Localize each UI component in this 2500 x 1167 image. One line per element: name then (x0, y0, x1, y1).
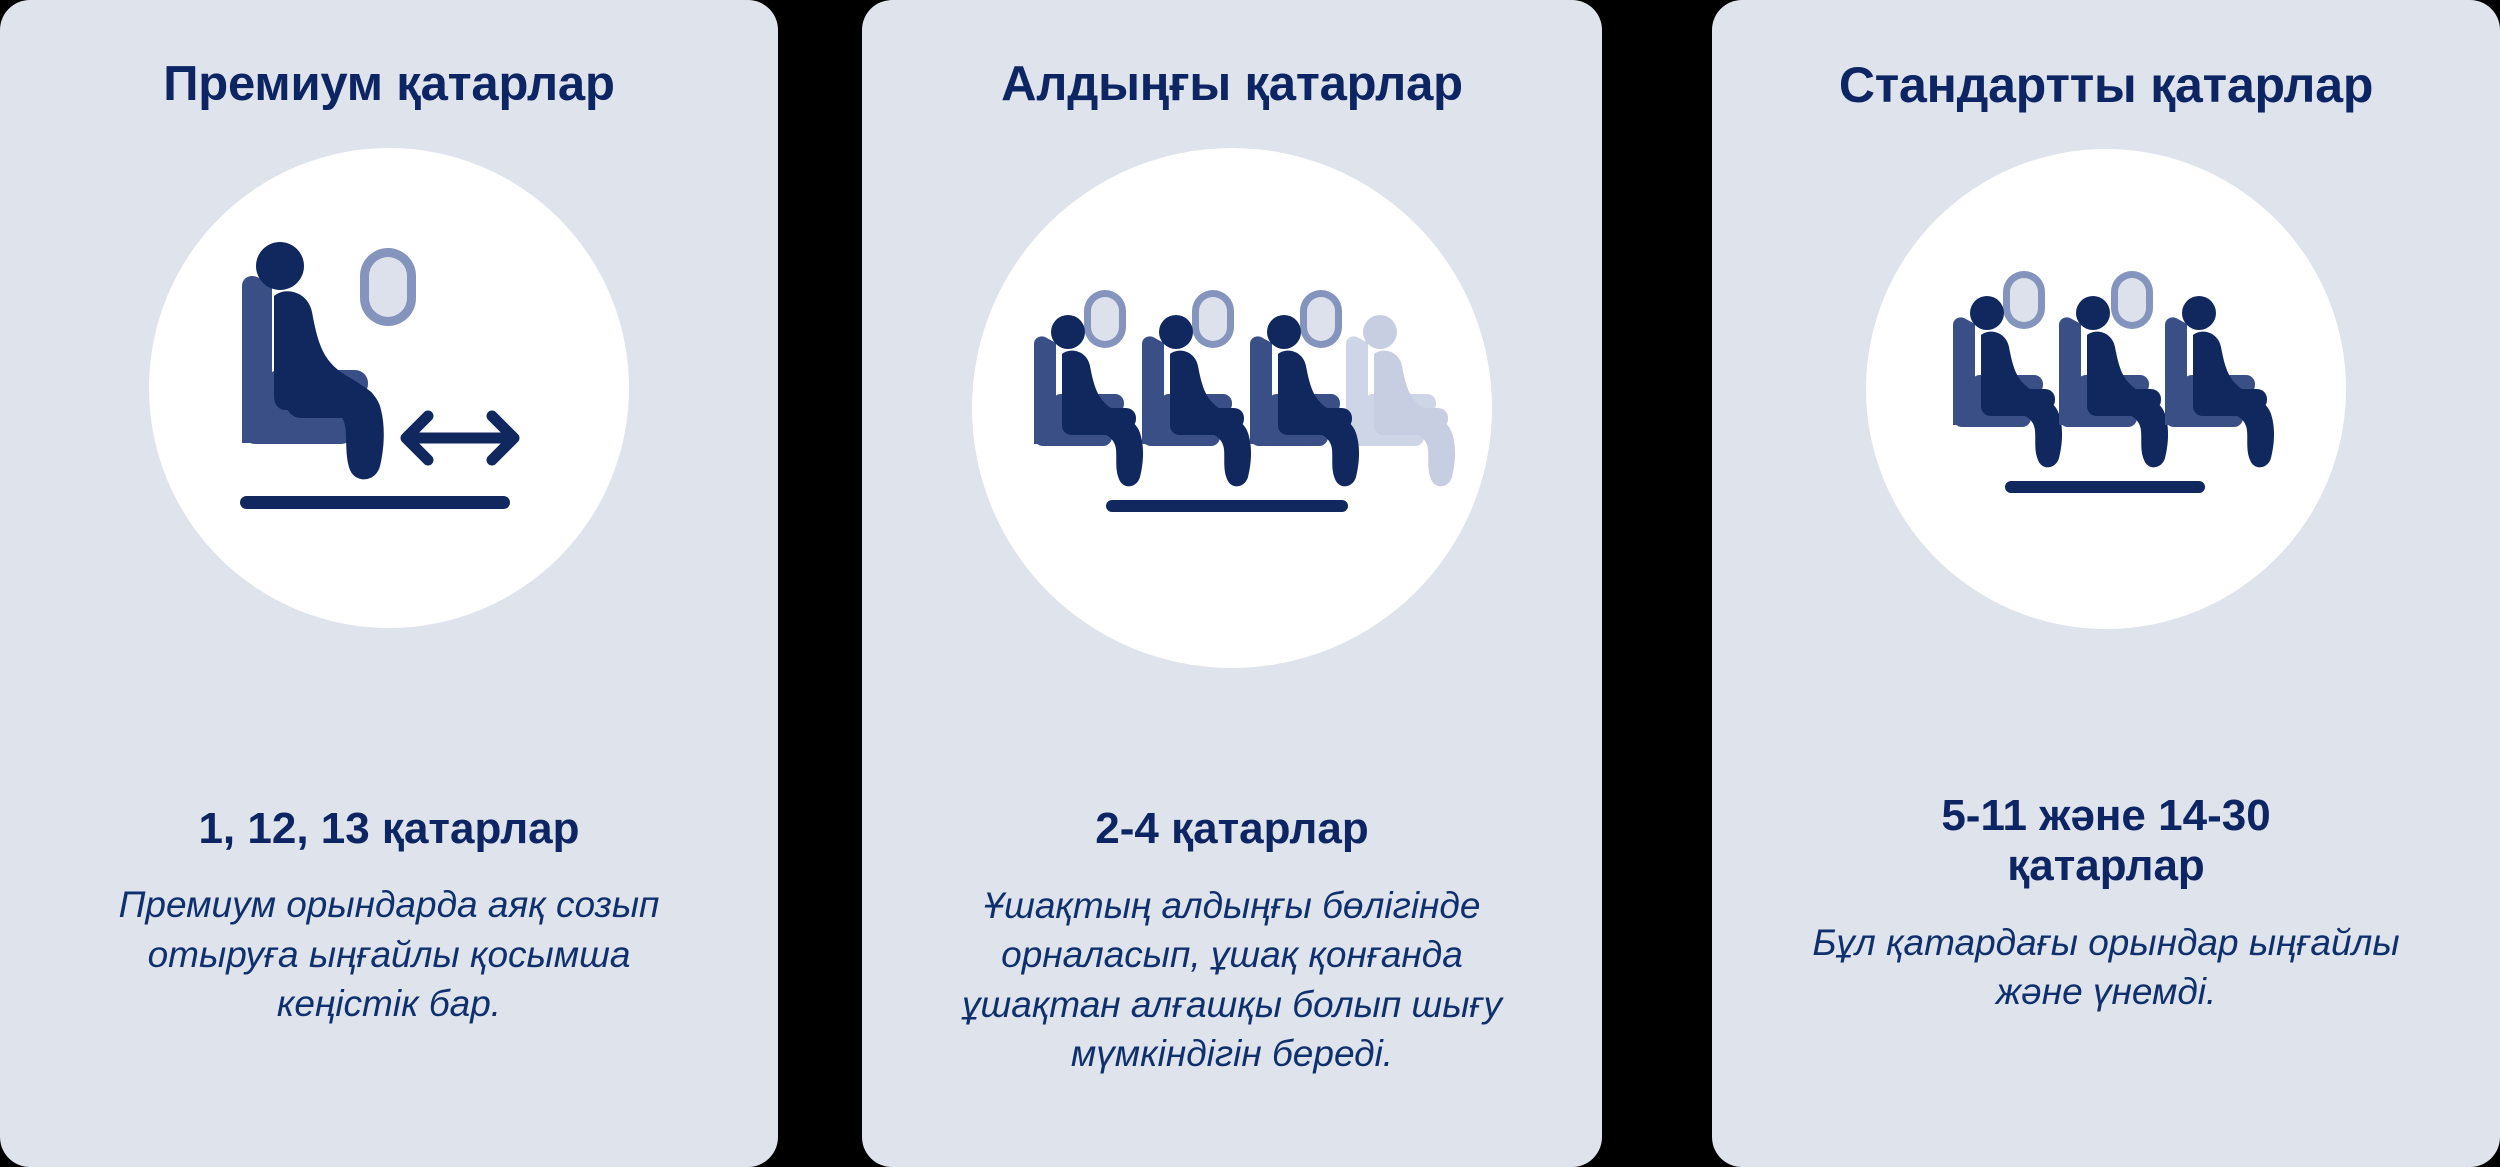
bottom-block-standard: 5-11 және 14-30 қатарлар Бұл қатардағы о… (1712, 791, 2500, 1167)
airplane-window-icon (360, 248, 416, 326)
description-standard: Бұл қатардағы орындар ыңғайлы және үнемд… (1776, 918, 2436, 1017)
floor-line (2005, 481, 2205, 493)
rows-label-front: 2-4 қатарлар (1095, 804, 1368, 855)
card-standard-rows[interactable]: Стандартты қатарлар (1712, 0, 2500, 1167)
floor-line (240, 496, 510, 509)
icon-wrap-standard (1866, 149, 2346, 629)
rows-label-standard: 5-11 және 14-30 қатарлар (1941, 791, 2270, 892)
premium-seat-legroom-icon (224, 238, 554, 538)
standard-rows-seats-icon (1941, 269, 2271, 509)
legroom-arrow-icon (406, 416, 514, 460)
description-front: Ұшақтың алдыңғы бөлігінде орналасып, ұша… (917, 881, 1547, 1079)
rows-label-premium: 1, 12, 13 қатарлар (198, 804, 579, 855)
passenger-solid-3 (1250, 315, 1359, 486)
passenger-faded (1346, 315, 1455, 486)
passenger-solid-2 (2059, 296, 2168, 467)
icon-circle-premium (149, 148, 629, 628)
airplane-window-icon-2 (1192, 290, 1234, 348)
airplane-window-icon-1 (1084, 290, 1126, 348)
icon-wrap-front (972, 148, 1492, 668)
icon-circle-front (972, 148, 1492, 668)
icon-circle-standard (1866, 149, 2346, 629)
bottom-block-premium: 1, 12, 13 қатарлар Премиум орындарда аяқ… (0, 804, 778, 1167)
description-premium: Премиум орындарда аяқ созып отыруға ыңға… (79, 880, 699, 1029)
card-title-premium: Премиум қатарлар (139, 58, 638, 112)
card-title-front: Алдыңғы қатарлар (977, 58, 1487, 112)
passenger-solid-1 (1953, 296, 2062, 467)
airplane-window-icon-3 (1300, 290, 1342, 348)
seat-class-board: Премиум қатарлар (0, 0, 2500, 1167)
icon-wrap-premium (149, 148, 629, 628)
bottom-block-front: 2-4 қатарлар Ұшақтың алдыңғы бөлігінде о… (862, 804, 1602, 1167)
passenger-solid-3 (2165, 296, 2274, 467)
card-premium-rows[interactable]: Премиум қатарлар (0, 0, 778, 1167)
passenger-solid-2 (1142, 315, 1251, 486)
airplane-window-icon-2 (2111, 271, 2153, 329)
card-title-standard: Стандартты қатарлар (1815, 58, 2397, 113)
passenger-solid-1 (1034, 315, 1143, 486)
card-front-rows[interactable]: Алдыңғы қатарлар (862, 0, 1602, 1167)
front-rows-seats-icon (1022, 288, 1442, 528)
floor-line (1106, 500, 1348, 512)
airplane-window-icon-1 (2003, 271, 2045, 329)
